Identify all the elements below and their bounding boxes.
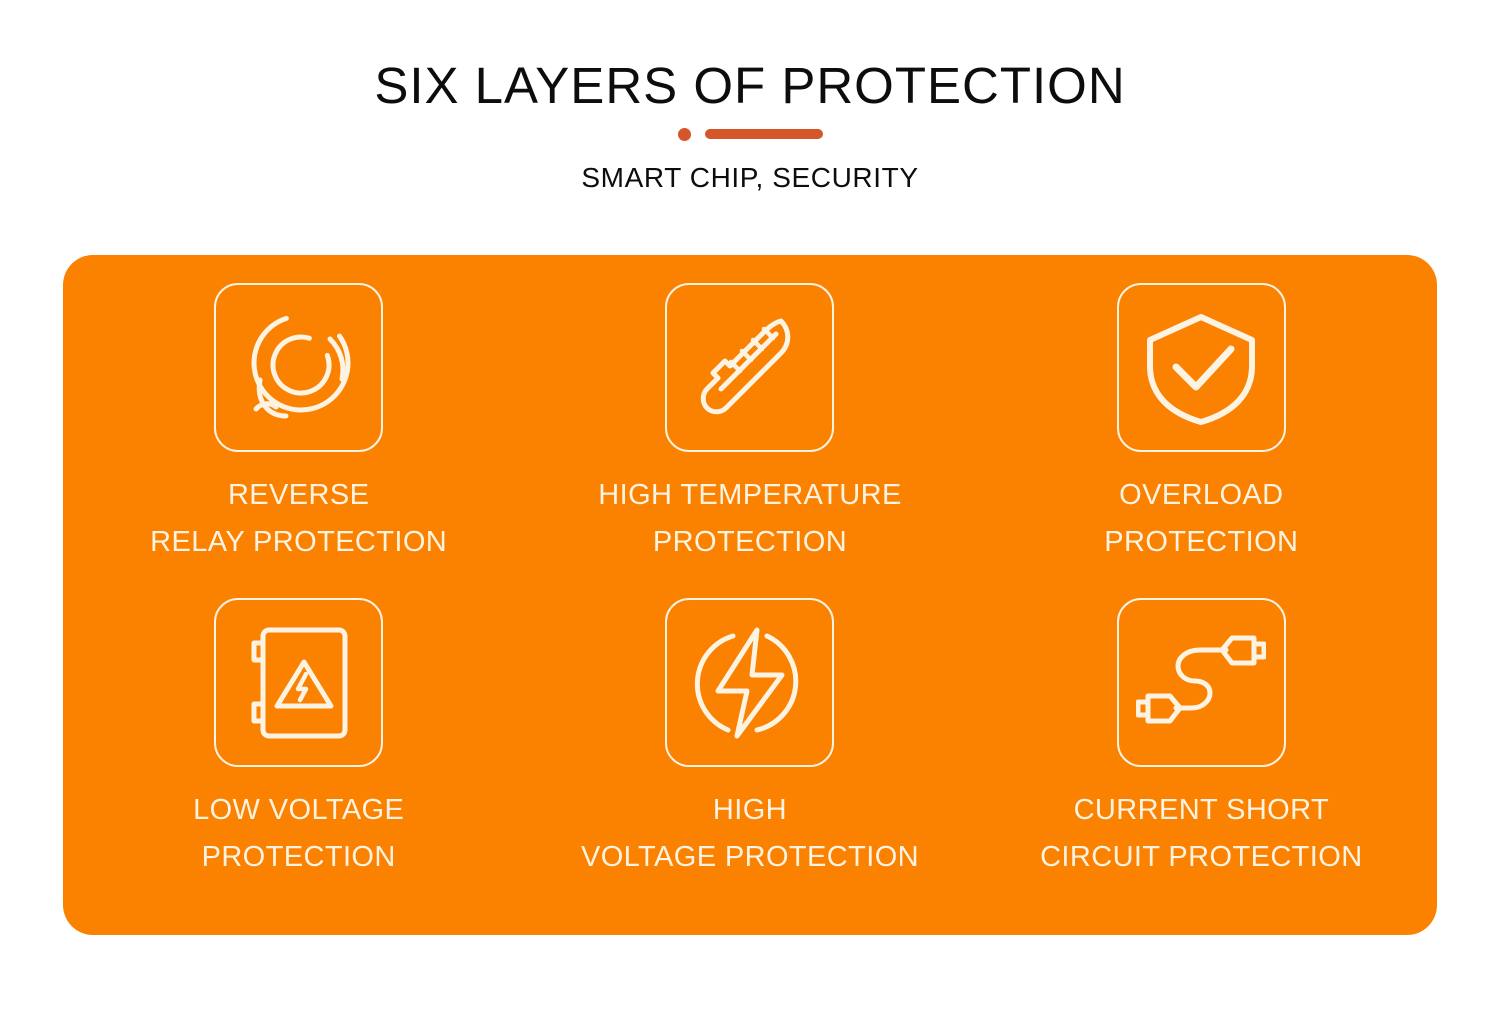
feature-icon-tile [665, 283, 834, 452]
feature-item-high-voltage: HIGH VOLTAGE PROTECTION [524, 598, 975, 913]
feature-label-line2: CIRCUIT PROTECTION [1040, 834, 1362, 881]
feature-icon-tile [214, 598, 383, 767]
lightning-bolt-circle-icon [685, 618, 815, 748]
feature-label-line1: HIGH [581, 787, 919, 834]
features-panel: REVERSE RELAY PROTECTION HIGH TEMPERATUR… [63, 255, 1437, 935]
feature-label: CURRENT SHORT CIRCUIT PROTECTION [1040, 787, 1362, 881]
feature-label-line2: RELAY PROTECTION [150, 519, 447, 566]
feature-label: HIGH TEMPERATURE PROTECTION [598, 472, 901, 566]
feature-item-reverse-relay: REVERSE RELAY PROTECTION [73, 283, 524, 598]
feature-label-line2: PROTECTION [1104, 519, 1298, 566]
plug-cable-icon [1136, 618, 1266, 748]
electrical-cabinet-warning-icon [234, 618, 364, 748]
feature-icon-tile [214, 283, 383, 452]
relay-coil-icon [234, 303, 364, 433]
shield-check-icon [1136, 303, 1266, 433]
feature-label-line1: CURRENT SHORT [1040, 787, 1362, 834]
divider-dot-icon [678, 128, 691, 141]
feature-item-high-temperature: HIGH TEMPERATURE PROTECTION [524, 283, 975, 598]
feature-label-line2: VOLTAGE PROTECTION [581, 834, 919, 881]
feature-label-line1: OVERLOAD [1104, 472, 1298, 519]
divider [0, 127, 1500, 141]
infographic-page: SIX LAYERS OF PROTECTION SMART CHIP, SEC… [0, 0, 1500, 1030]
feature-label: OVERLOAD PROTECTION [1104, 472, 1298, 566]
divider-bar-icon [705, 129, 823, 139]
feature-label-line1: HIGH TEMPERATURE [598, 472, 901, 519]
page-title: SIX LAYERS OF PROTECTION [0, 56, 1500, 116]
feature-item-overload: OVERLOAD PROTECTION [976, 283, 1427, 598]
thermometer-icon [685, 303, 815, 433]
feature-label: LOW VOLTAGE PROTECTION [193, 787, 404, 881]
page-subtitle: SMART CHIP, SECURITY [0, 161, 1500, 195]
feature-label-line2: PROTECTION [193, 834, 404, 881]
header: SIX LAYERS OF PROTECTION SMART CHIP, SEC… [0, 56, 1500, 195]
feature-label: REVERSE RELAY PROTECTION [150, 472, 447, 566]
feature-label-line1: REVERSE [150, 472, 447, 519]
feature-label-line2: PROTECTION [598, 519, 901, 566]
feature-icon-tile [1117, 598, 1286, 767]
feature-label: HIGH VOLTAGE PROTECTION [581, 787, 919, 881]
feature-item-low-voltage: LOW VOLTAGE PROTECTION [73, 598, 524, 913]
feature-label-line1: LOW VOLTAGE [193, 787, 404, 834]
feature-item-short-circuit: CURRENT SHORT CIRCUIT PROTECTION [976, 598, 1427, 913]
feature-icon-tile [1117, 283, 1286, 452]
feature-icon-tile [665, 598, 834, 767]
